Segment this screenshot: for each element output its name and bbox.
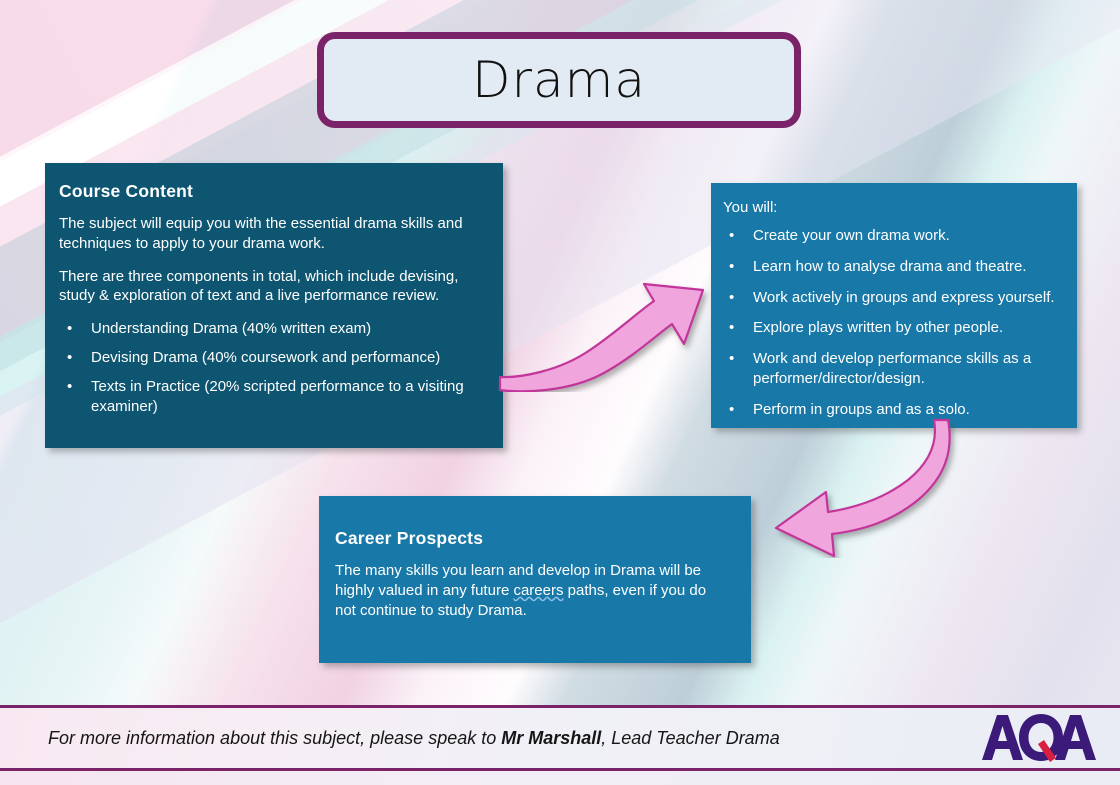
footer-text-before: For more information about this subject,…: [48, 728, 501, 748]
slide-title-box: Drama: [317, 32, 801, 128]
list-item: Create your own drama work.: [745, 226, 1063, 246]
course-content-paragraph-1: The subject will equip you with the esse…: [59, 214, 483, 254]
course-content-panel: Course Content The subject will equip yo…: [45, 163, 503, 448]
career-prospects-heading: Career Prospects: [335, 528, 729, 549]
list-item: Texts in Practice (20% scripted performa…: [83, 377, 483, 417]
list-item: Work actively in groups and express your…: [745, 288, 1063, 308]
list-item: Devising Drama (40% coursework and perfo…: [83, 348, 483, 368]
list-item: Understanding Drama (40% written exam): [83, 319, 483, 339]
footer-bottom-strip: [0, 771, 1120, 785]
list-item: Learn how to analyse drama and theatre.: [745, 257, 1063, 277]
footer-text: For more information about this subject,…: [48, 728, 780, 749]
list-item: Perform in groups and as a solo.: [745, 400, 1063, 420]
footer-band: For more information about this subject,…: [0, 705, 1120, 771]
course-content-paragraph-2: There are three components in total, whi…: [59, 267, 483, 307]
footer-teacher-name: Mr Marshall: [501, 728, 601, 748]
you-will-lead: You will:: [723, 199, 1063, 216]
you-will-panel: You will: Create your own drama work. Le…: [711, 183, 1077, 428]
aqa-logo-icon: [980, 712, 1098, 764]
footer-text-after: , Lead Teacher Drama: [601, 728, 779, 748]
list-item: Work and develop performance skills as a…: [745, 349, 1063, 389]
slide-canvas: Drama Course Content The subject will eq…: [0, 0, 1120, 785]
career-prospects-panel: Career Prospects The many skills you lea…: [319, 496, 751, 663]
list-item: Explore plays written by other people.: [745, 318, 1063, 338]
you-will-bullet-list: Create your own drama work. Learn how to…: [721, 226, 1063, 420]
course-content-bullet-list: Understanding Drama (40% written exam) D…: [59, 319, 483, 416]
career-body-misspelled-word: careers: [513, 582, 563, 599]
course-content-heading: Course Content: [59, 181, 483, 202]
page-title: Drama: [472, 51, 646, 109]
career-prospects-body: The many skills you learn and develop in…: [335, 561, 729, 620]
